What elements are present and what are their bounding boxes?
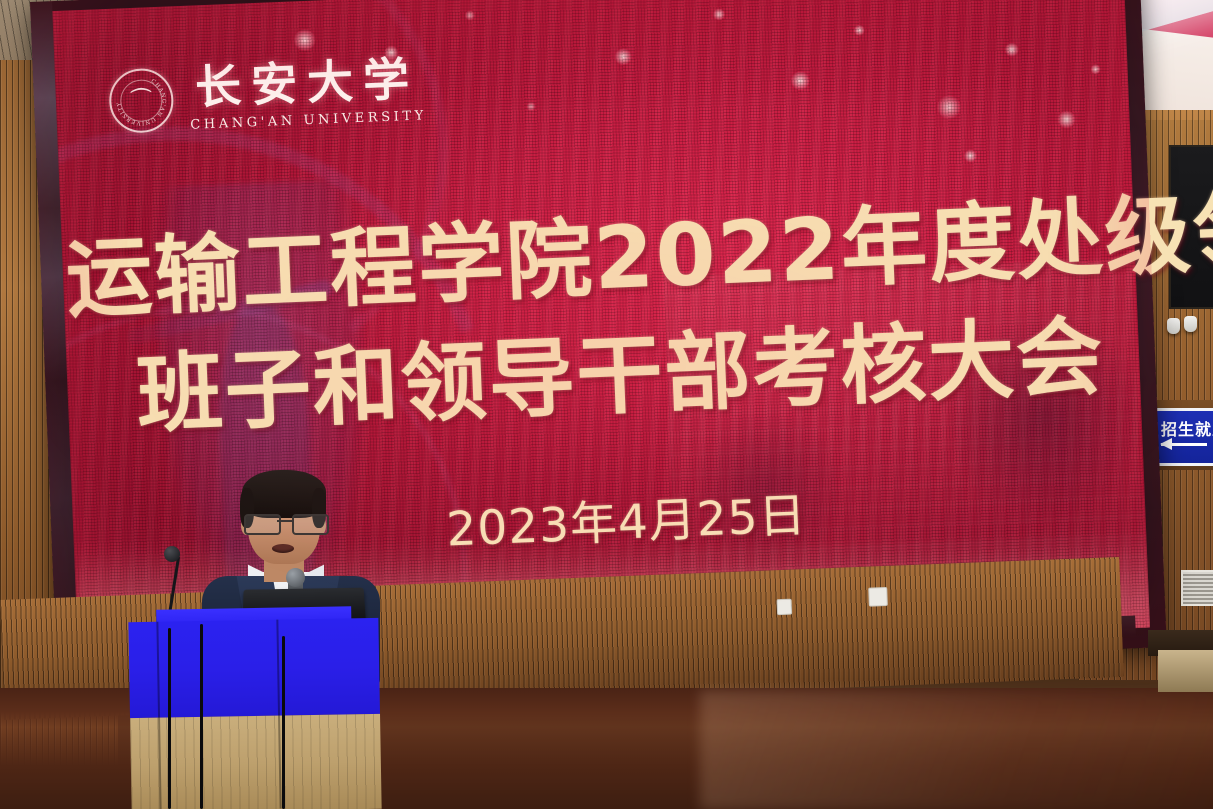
- wall-dark-panel: [1169, 145, 1213, 309]
- podium-blue-panel: [128, 618, 380, 718]
- spotlight-icon: [1167, 318, 1180, 334]
- speaker-mouth: [272, 544, 294, 553]
- wayfinding-sign: 招生就业: [1152, 408, 1213, 466]
- wayfinding-sign-label: 招生就业: [1161, 416, 1213, 440]
- seal-center-glyph: ⏜: [130, 90, 152, 113]
- university-logo: CHANG'AN UNIVERSITY ⏜ 长安大学 CHANG'AN UNIV…: [108, 55, 427, 136]
- podium-cable: [282, 636, 285, 809]
- microphone-head: [286, 568, 305, 587]
- gooseneck-mic-head: [164, 546, 180, 562]
- logo-chinese-name: 长安大学: [194, 56, 420, 111]
- podium: [128, 618, 381, 809]
- left-arrow-icon: [1161, 443, 1207, 446]
- spotlight-icon: [1184, 316, 1197, 332]
- logo-wordmark: 长安大学 CHANG'AN UNIVERSITY: [188, 55, 427, 132]
- eyeglass-lens: [292, 514, 329, 535]
- university-seal-icon: CHANG'AN UNIVERSITY ⏜: [108, 67, 175, 134]
- floor-reflection: [700, 690, 1213, 809]
- stage-step: [1158, 650, 1213, 692]
- conference-hall-photo: 招生就业: [0, 0, 1213, 809]
- wall-air-vent: [1181, 570, 1213, 606]
- wall-outlet: [868, 587, 888, 607]
- podium-cable: [200, 624, 203, 809]
- podium-cable: [168, 628, 171, 809]
- eyeglass-lens: [244, 514, 281, 535]
- eyeglasses-icon: [242, 514, 328, 531]
- wall-outlet: [777, 599, 793, 616]
- eyeglass-bridge: [277, 520, 292, 522]
